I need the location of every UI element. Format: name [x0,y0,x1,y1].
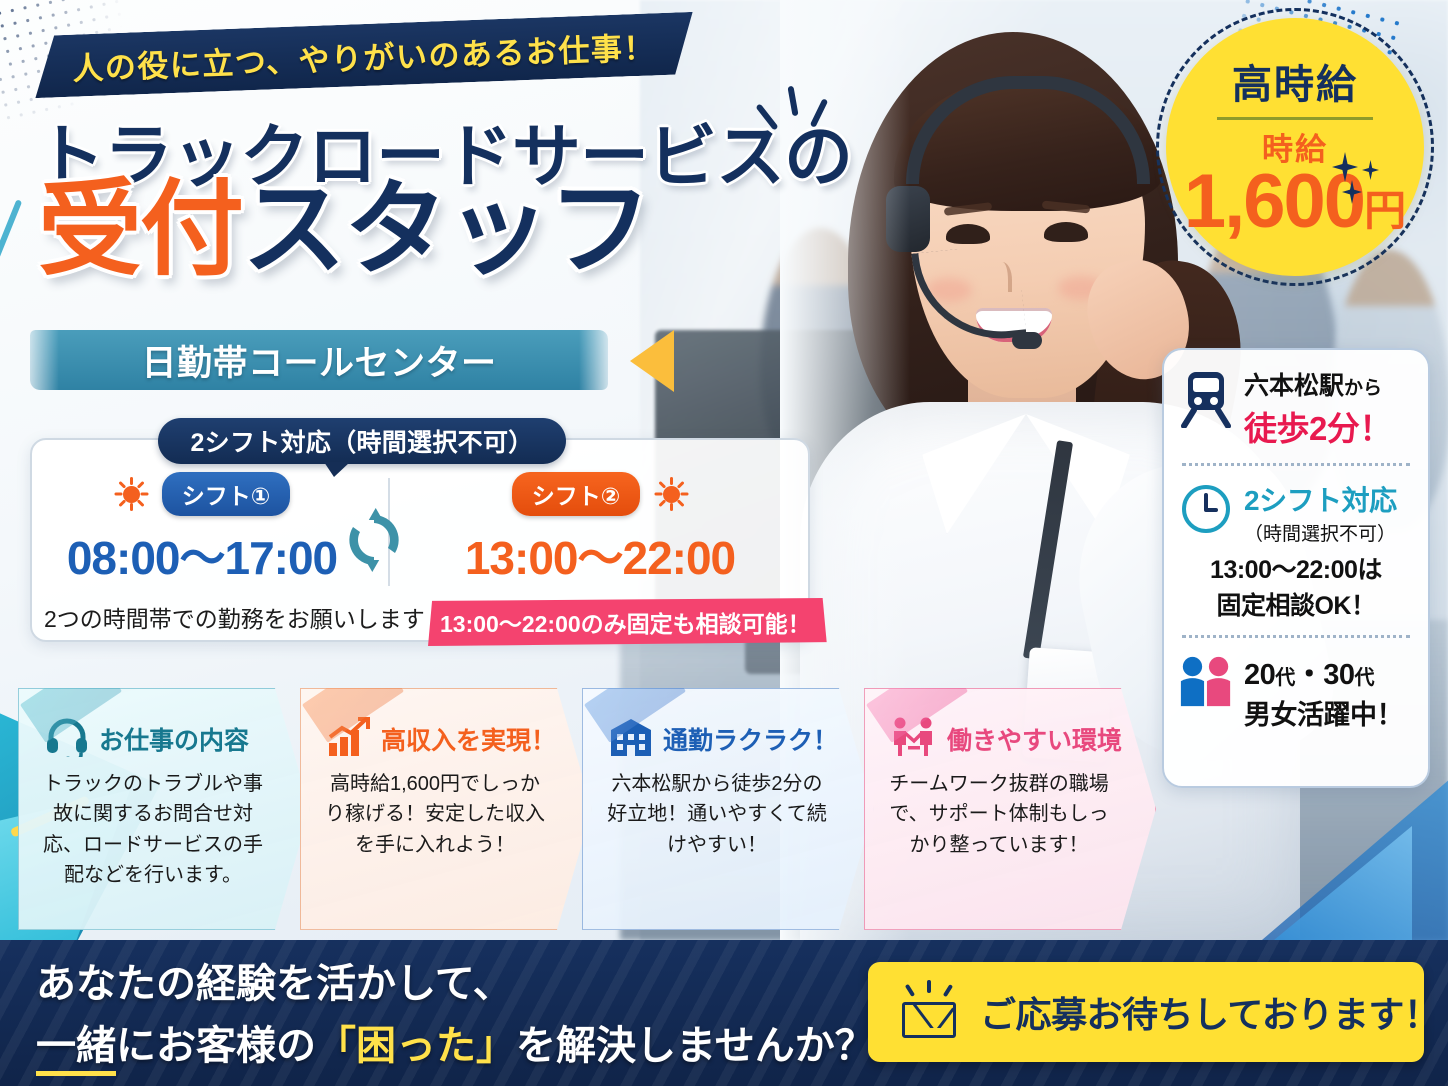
shift-2-tag: シフト② [512,472,640,516]
feature-body: トラックのトラブルや事故に関するお問合せ対応、ロードサービスの手配などを行います… [41,769,279,891]
refresh-cycle-icon [340,506,408,574]
shift-1-column: シフト① 08:00〜17:00 [52,472,352,588]
sparkle-icon [1328,152,1390,208]
sun-icon [114,477,148,511]
rail-shift-time: 13:00〜22:00は [1178,550,1414,586]
feature-title: 働きやすい環境 [947,721,1122,757]
sparkle-lines-icon [760,78,834,138]
feature-title: 高収入を実現！ [381,721,556,757]
rail-item-station: 六本松駅から 徒歩2分！ [1178,366,1414,450]
shift-2-column: シフト② 13:00〜22:00 [450,472,750,588]
job-ad-poster: 人の役に立つ、やりがいのあるお仕事！ トラックロードサービスの 受付スタッフ 日… [0,0,1448,1086]
mail-icon [898,984,960,1040]
rail-shift-title: 2シフト対応 [1244,479,1414,519]
shift-pill-text: 2シフト対応（時間選択不可） [190,423,533,459]
clock-icon [1178,479,1234,535]
footer-message: あなたの経験を活かして、 一緒にお客様の「困った」を解決しませんか？ [36,951,875,1076]
rail-item-shift: 2シフト対応 （時間選択不可） [1178,479,1414,546]
age-separator: ・ [1295,659,1324,691]
footer-line2-end: を解決しませんか？ [516,1024,875,1068]
ribbon-text: 人の役に立つ、やりがいのあるお仕事！ [71,22,656,88]
footer-line2-mid: にお客様の [116,1024,316,1068]
info-rail: 六本松駅から 徒歩2分！ 2シフト対応 （時間選択不可） 13:00〜22:00… [1162,348,1430,788]
age-20-unit: 代 [1275,667,1295,689]
footer-line2-highlight: 「困った」 [316,1024,516,1068]
wage-badge: 高時給 時給 1,600 円 [1166,18,1424,276]
station-name: 六本松駅 [1244,372,1344,400]
shift-pink-note: 13:00〜22:00のみ固定も相談可能！ [424,598,827,646]
rail-separator [1182,463,1410,466]
feature-card-environment: 働きやすい環境 チームワーク抜群の職場で、サポート体制もしっかり整っています！ [864,688,1156,930]
yellow-triangle-icon [630,330,674,392]
feature-cards: お仕事の内容 トラックのトラブルや事故に関するお問合せ対応、ロードサービスの手配… [18,688,1108,938]
feature-body: チームワーク抜群の職場で、サポート体制もしっかり整っています！ [887,769,1125,860]
shift-1-tag: シフト① [162,472,290,516]
rail-shift-sub: （時間選択不可） [1244,519,1414,546]
age-note: 男女活躍中！ [1244,693,1414,732]
station-suffix: から [1344,378,1382,399]
sun-icon [654,477,688,511]
feature-card-job-content: お仕事の内容 トラックのトラブルや事故に関するお問合せ対応、ロードサービスの手配… [18,688,310,930]
feature-title: 通勤ラクラク！ [663,721,838,757]
subtitle-text: 日勤帯コールセンター [141,335,496,386]
rail-separator [1182,635,1410,638]
feature-title: お仕事の内容 [99,721,249,757]
two-people-icon [1178,651,1234,711]
footer-line1: あなたの経験を活かして、 [36,951,875,1009]
shift-pill-label: 2シフト対応（時間選択不可） [158,418,566,464]
feature-card-high-income: 高収入を実現！ 高時給1,600円でしっかり稼げる！安定した収入を手に入れよう！ [300,688,592,930]
train-icon [1178,366,1234,428]
age-20: 20 [1244,659,1275,691]
cta-label: ご応募お待ちしております！ [980,986,1439,1038]
wage-divider [1217,117,1373,120]
walk-time: 徒歩2分！ [1244,402,1414,450]
subtitle-brush-banner: 日勤帯コールセンター [30,330,608,390]
rail-shift-fixed: 固定相談OK！ [1178,586,1414,622]
footer-line2-underlined: 一緒 [36,1013,116,1076]
wage-top-label: 高時給 [1232,52,1358,110]
feature-card-commute: 通勤ラクラク！ 六本松駅から徒歩2分の好立地！通いやすくて続けやすい！ [582,688,874,930]
feature-body: 高時給1,600円でしっかり稼げる！安定した収入を手に入れよう！ [323,769,561,860]
headline-line2: 受付スタッフ [38,178,650,282]
shift-2-time: 13:00〜22:00 [450,522,750,588]
apply-cta-button[interactable]: ご応募お待ちしております！ [868,962,1424,1062]
shift-1-time: 08:00〜17:00 [52,522,352,588]
rail-item-age: 20代・30代 男女活躍中！ [1178,651,1414,732]
age-30: 30 [1323,659,1354,691]
feature-body: 六本松駅から徒歩2分の好立地！通いやすくて続けやすい！ [605,769,843,860]
footer-line2: 一緒にお客様の「困った」を解決しませんか？ [36,1013,875,1076]
headline-navy: スタッフ [242,172,650,288]
headline-orange: 受付 [38,172,242,288]
age-30-unit: 代 [1355,667,1375,689]
shift-note: 2つの時間帯での勤務をお願いします [44,600,394,634]
footer-band: あなたの経験を活かして、 一緒にお客様の「困った」を解決しませんか？ ご応募お待… [0,940,1448,1086]
